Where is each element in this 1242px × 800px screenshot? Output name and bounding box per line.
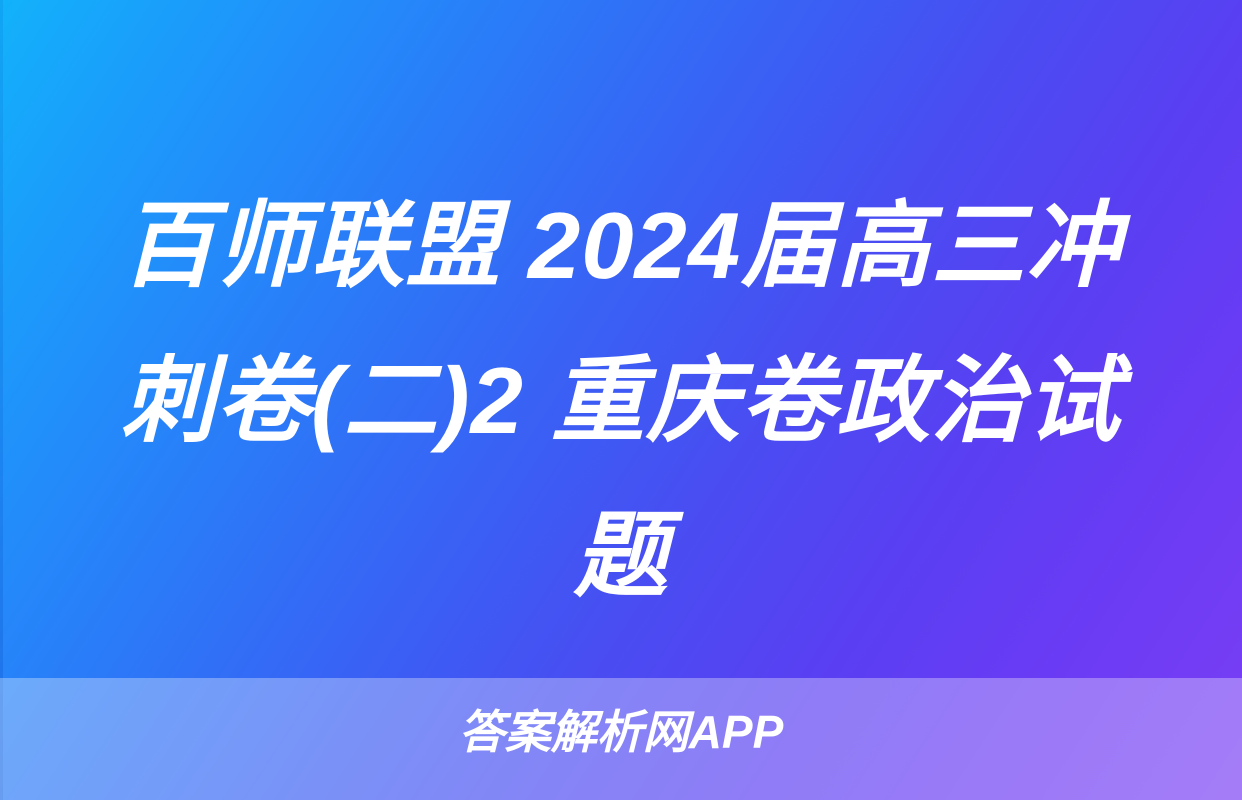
title-line-2: 刺卷(二)2 重庆卷政治试 [62, 323, 1180, 478]
title-line-3: 题 [62, 478, 1180, 633]
promo-banner: 百师联盟 2024届高三冲 刺卷(二)2 重庆卷政治试 题 答案解析网APP [0, 0, 1242, 800]
page-title: 百师联盟 2024届高三冲 刺卷(二)2 重庆卷政治试 题 [0, 168, 1242, 633]
watermark-text: 答案解析网APP [459, 703, 784, 761]
title-line-1: 百师联盟 2024届高三冲 [62, 168, 1180, 323]
watermark: 答案解析网APP [0, 703, 1242, 761]
